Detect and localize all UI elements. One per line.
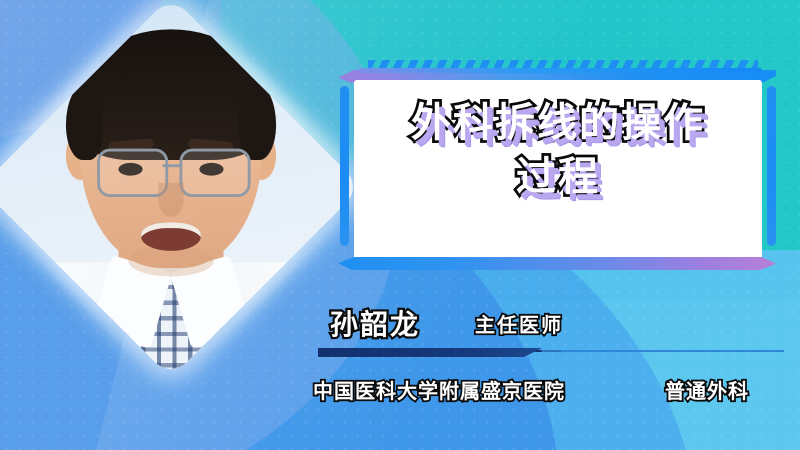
doctor-rank: 主任医师 [475,309,563,338]
portrait-glasses-bridge [162,164,179,167]
title-line-1: 外科拆线的操作 [354,96,762,150]
title-frame: 外科拆线的操作 过程 [336,62,780,276]
department-name: 普通外科 [665,375,749,404]
portrait-mouth [141,223,201,251]
frame-border-bottom [338,257,776,270]
portrait-nose [158,183,184,217]
frame-border-right [767,86,776,246]
hospital-name: 中国医科大学附属盛京医院 [313,375,565,404]
doctor-name: 孙韶龙 [330,303,420,343]
frame-border-top-highlight [358,68,762,73]
doctor-portrait [36,52,306,322]
title-text-block: 外科拆线的操作 过程 [354,96,762,204]
credits-divider-accent [318,348,542,357]
portrait-glasses-right [180,149,251,197]
frame-border-left [340,86,349,246]
portrait-hair-left [66,83,103,160]
video-title-card: 外科拆线的操作 过程 孙韶龙 主任医师 中国医科大学附属盛京医院 普通外科 [0,0,800,450]
title-line-2: 过程 [354,150,762,204]
